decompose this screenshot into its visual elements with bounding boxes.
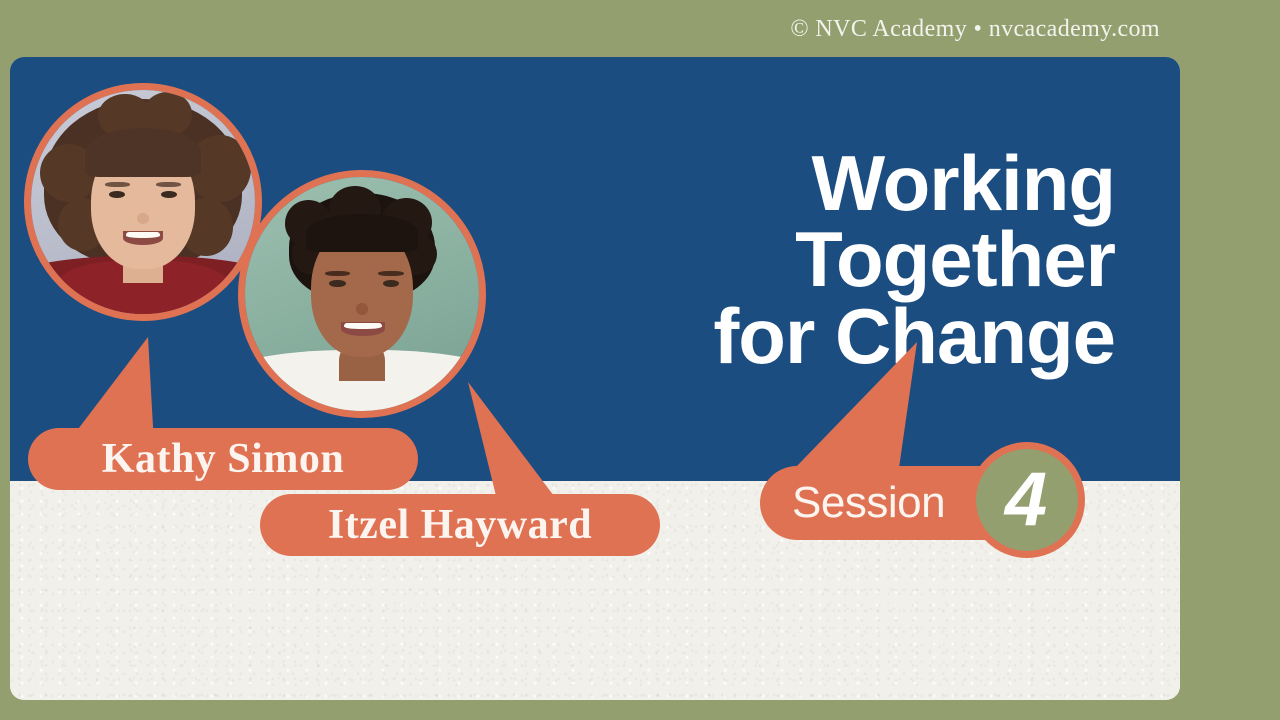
speech-tail-itzel — [440, 382, 600, 507]
eye-left — [109, 191, 125, 198]
avatar-kathy-simon — [24, 83, 262, 321]
eye-right — [161, 191, 177, 198]
title-line-2: Together — [713, 221, 1115, 297]
copyright-notice: © NVC Academy • nvcacademy.com — [790, 16, 1160, 43]
nose-shape — [356, 303, 368, 315]
slide-title: Working Together for Change — [713, 145, 1115, 374]
speech-tail-session — [785, 342, 945, 472]
session-number-badge: 4 — [969, 442, 1085, 558]
eyebrow-left — [325, 271, 351, 277]
slide-card: Working Together for Change — [10, 57, 1180, 700]
eyebrow-right — [156, 182, 181, 187]
session-number: 4 — [1005, 462, 1047, 538]
title-line-1: Working — [713, 145, 1115, 221]
nose-shape — [137, 213, 148, 224]
smile-shape — [123, 231, 163, 244]
name-label-kathy-simon: Kathy Simon — [28, 428, 418, 490]
teeth-shape — [344, 323, 381, 329]
avatar-itzel-hayward — [238, 170, 486, 418]
eyebrow-left — [105, 182, 130, 187]
hair-front-shape — [85, 128, 201, 177]
name-label-itzel-hayward: Itzel Hayward — [260, 494, 660, 556]
slide-frame: © NVC Academy • nvcacademy.com Working T… — [0, 0, 1280, 720]
hair-front-shape — [306, 214, 418, 251]
eyebrow-right — [378, 271, 404, 277]
teeth-shape — [126, 232, 160, 238]
